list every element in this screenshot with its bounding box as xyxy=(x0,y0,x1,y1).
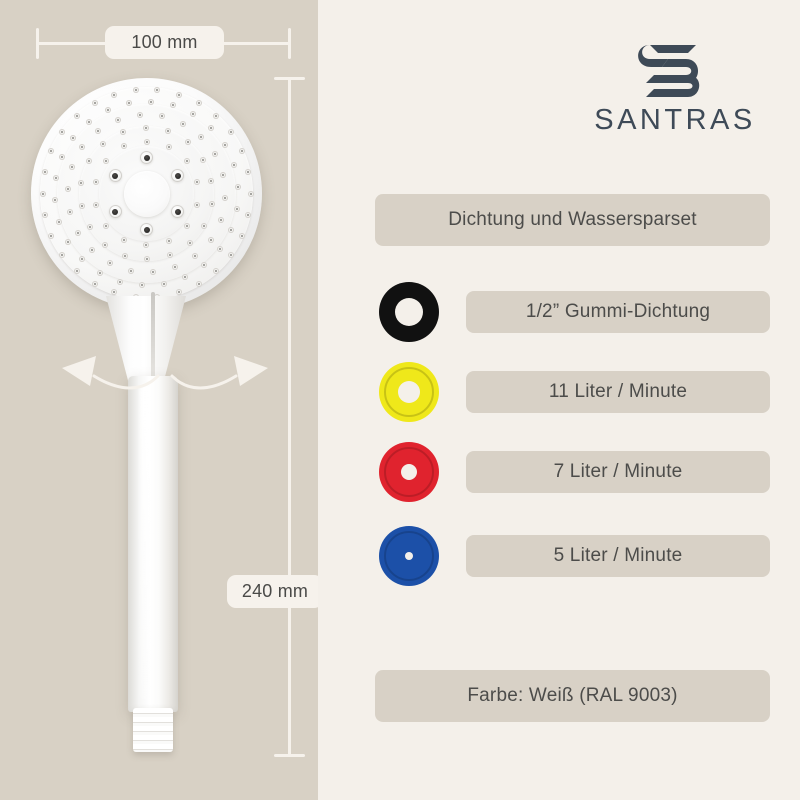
nozzle xyxy=(92,100,98,106)
nozzle xyxy=(228,129,234,135)
width-dimension-cap-left xyxy=(36,28,39,59)
nozzle xyxy=(120,129,126,135)
nozzle xyxy=(208,125,214,131)
nozzle-large xyxy=(109,169,122,182)
height-dimension-cap-top xyxy=(274,77,305,80)
nozzle xyxy=(128,268,134,274)
nozzle xyxy=(144,139,150,145)
shower-head-face xyxy=(31,78,262,309)
flow-restrictor-yellow-icon xyxy=(378,361,440,423)
spec-row: 7 Liter / Minute xyxy=(0,441,800,503)
nozzle xyxy=(59,252,65,258)
nozzle xyxy=(93,202,99,208)
nozzle xyxy=(100,141,106,147)
nozzle xyxy=(102,242,108,248)
santras-s-icon xyxy=(638,42,704,100)
nozzle xyxy=(228,252,234,258)
nozzle xyxy=(103,158,109,164)
nozzle xyxy=(192,253,198,259)
width-dimension-label: 100 mm xyxy=(105,26,224,59)
spec-row: 1/2” Gummi-Dichtung xyxy=(0,281,800,343)
nozzle xyxy=(166,238,172,244)
nozzle xyxy=(40,191,46,197)
nozzle xyxy=(122,253,128,259)
specs-title-pill: Dichtung und Wassersparset xyxy=(375,194,770,246)
nozzle xyxy=(86,119,92,125)
spec-label-pill: 11 Liter / Minute xyxy=(466,371,770,413)
nozzle xyxy=(121,237,127,243)
spec-label-pill: 1/2” Gummi-Dichtung xyxy=(466,291,770,333)
brand-name: SANTRAS xyxy=(575,104,775,137)
nozzle xyxy=(115,117,121,123)
nozzle xyxy=(159,113,165,119)
nozzle xyxy=(53,175,59,181)
color-footer-pill: Farbe: Weiß (RAL 9003) xyxy=(375,670,770,722)
nozzle xyxy=(196,100,202,106)
nozzle xyxy=(93,179,99,185)
nozzle xyxy=(213,268,219,274)
nozzle xyxy=(74,268,80,274)
nozzle xyxy=(239,233,245,239)
nozzle xyxy=(75,230,81,236)
nozzle xyxy=(180,121,186,127)
brand-logo: SANTRAS xyxy=(575,42,775,132)
nozzle xyxy=(56,219,62,225)
spec-row: 5 Liter / Minute xyxy=(0,525,800,587)
nozzle xyxy=(59,154,65,160)
nozzle xyxy=(208,237,214,243)
nozzle xyxy=(222,142,228,148)
nozzle xyxy=(97,270,103,276)
nozzle-large xyxy=(140,223,153,236)
nozzle xyxy=(42,212,48,218)
nozzle xyxy=(103,223,109,229)
nozzle xyxy=(201,223,207,229)
width-dimension-cap-right xyxy=(288,28,291,59)
nozzle xyxy=(209,201,215,207)
nozzle xyxy=(89,247,95,253)
head-center-disc xyxy=(124,171,170,217)
nozzle xyxy=(105,107,111,113)
nozzle xyxy=(52,197,58,203)
nozzle xyxy=(176,92,182,98)
nozzle xyxy=(111,92,117,98)
nozzle-large xyxy=(140,151,153,164)
nozzle xyxy=(143,125,149,131)
height-dimension-cap-bottom xyxy=(274,754,305,757)
hose-thread-connector xyxy=(133,708,173,752)
nozzle xyxy=(148,99,154,105)
nozzle-large xyxy=(109,205,122,218)
rubber-seal-ring-icon xyxy=(378,281,440,343)
flow-restrictor-blue-icon xyxy=(378,525,440,587)
nozzle xyxy=(217,246,223,252)
nozzle xyxy=(239,148,245,154)
nozzle xyxy=(248,191,254,197)
nozzle xyxy=(42,169,48,175)
flow-restrictor-red-icon xyxy=(378,441,440,503)
spec-label-pill: 5 Liter / Minute xyxy=(466,535,770,577)
nozzle xyxy=(79,203,85,209)
nozzle xyxy=(67,209,73,215)
nozzle xyxy=(137,112,143,118)
infographic-page: 100 mm 240 mm SANTRAS Dichtung und Wasse… xyxy=(0,0,800,800)
nozzle xyxy=(65,186,71,192)
spec-label-pill: 7 Liter / Minute xyxy=(466,451,770,493)
nozzle xyxy=(133,87,139,93)
nozzle xyxy=(218,217,224,223)
spec-row: 11 Liter / Minute xyxy=(0,361,800,423)
nozzle xyxy=(200,157,206,163)
